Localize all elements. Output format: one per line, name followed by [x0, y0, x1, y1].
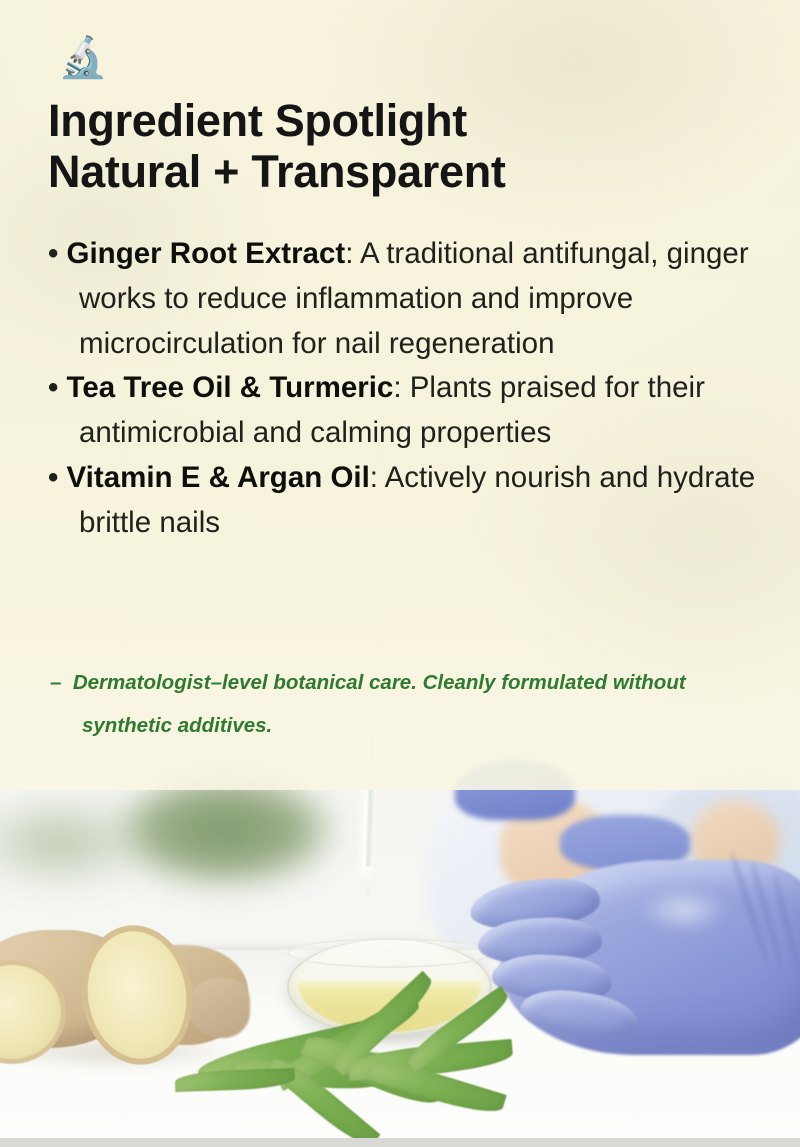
microscope-icon: 🔬 [58, 38, 108, 78]
ingredient-separator: : [370, 461, 385, 494]
list-item: • Tea Tree Oil & Turmeric: Plants praise… [48, 366, 760, 456]
page-title: Ingredient Spotlight Natural + Transpare… [48, 96, 506, 198]
footnote: – Dermatologist–level botanical care. Cl… [50, 662, 760, 747]
petri-dish-rim [287, 938, 492, 968]
ingredient-term: Tea Tree Oil & Turmeric [67, 371, 394, 404]
ingredient-list: • Ginger Root Extract: A traditional ant… [48, 232, 760, 546]
footnote-marker: – [50, 671, 61, 694]
bottom-strip [0, 1138, 800, 1147]
background-plant-blur-2 [0, 795, 160, 890]
page-title-line-2: Natural + Transparent [48, 147, 506, 198]
ingredient-term: Vitamin E & Argan Oil [67, 461, 370, 494]
list-item: • Vitamin E & Argan Oil: Actively nouris… [48, 456, 760, 546]
page-title-line-1: Ingredient Spotlight [48, 96, 506, 147]
bullet-marker: • [48, 371, 58, 404]
content-panel: 🔬 Ingredient Spotlight Natural + Transpa… [0, 0, 800, 790]
bullet-marker: • [48, 461, 58, 494]
footnote-text: Dermatologist–level botanical care. Clea… [73, 671, 686, 737]
ingredient-spotlight-poster: 🔬 Ingredient Spotlight Natural + Transpa… [0, 0, 800, 1147]
ginger-root-knob [188, 978, 250, 1038]
ingredient-separator: : [345, 237, 360, 270]
ingredient-separator: : [393, 371, 409, 404]
list-item: • Ginger Root Extract: A traditional ant… [48, 232, 760, 366]
ingredient-term: Ginger Root Extract [67, 237, 346, 270]
bullet-marker: • [48, 237, 58, 270]
